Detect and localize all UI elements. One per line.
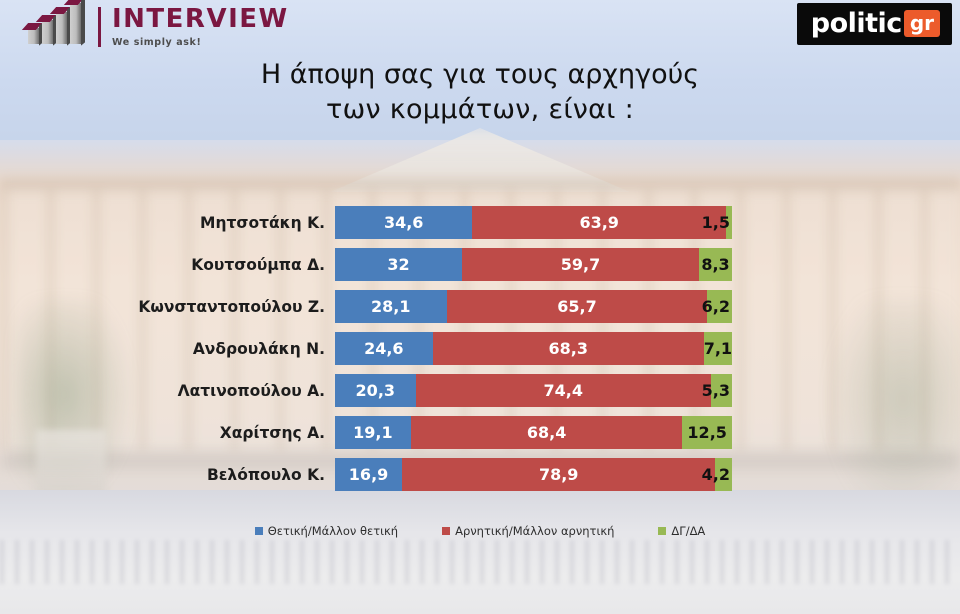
bar-segment-dk: 5,3	[711, 374, 732, 407]
stacked-bar: 34,663,91,5	[335, 206, 732, 239]
chart-row: Χαρίτσης Α.19,168,412,5	[0, 416, 960, 449]
bar-segment-dk: 1,5	[726, 206, 732, 239]
legend-item[interactable]: ΔΓ/ΔΑ	[658, 524, 705, 538]
bar-value-label: 7,1	[704, 341, 732, 357]
bar-segment-pos: 20,3	[335, 374, 416, 407]
legend-item[interactable]: Αρνητική/Μάλλον αρνητική	[442, 524, 614, 538]
bar-value-label: 34,6	[384, 215, 423, 231]
bar-value-label: 4,2	[702, 467, 730, 483]
legend-label: Αρνητική/Μάλλον αρνητική	[455, 524, 614, 538]
page-title: Η άποψη σας για τους αρχηγούς των κομμάτ…	[0, 58, 960, 127]
category-label: Κουτσούμπα Δ.	[0, 256, 335, 274]
bar-value-label: 63,9	[579, 215, 618, 231]
bar-segment-neg: 78,9	[402, 458, 715, 491]
bar-value-label: 68,3	[548, 341, 587, 357]
legend-item[interactable]: Θετική/Μάλλον θετική	[255, 524, 398, 538]
category-label: Ανδρουλάκη Ν.	[0, 340, 335, 358]
bar-segment-dk: 4,2	[715, 458, 732, 491]
bar-value-label: 32	[387, 257, 409, 273]
stacked-bar: 3259,78,3	[335, 248, 732, 281]
bar-segment-neg: 68,3	[433, 332, 704, 365]
chart-row: Μητσοτάκη Κ.34,663,91,5	[0, 206, 960, 239]
bar-value-label: 68,4	[527, 425, 566, 441]
bar-segment-neg: 59,7	[462, 248, 699, 281]
category-label: Χαρίτσης Α.	[0, 424, 335, 442]
bar-segment-dk: 12,5	[682, 416, 732, 449]
category-label: Κωνσταντοπούλου Ζ.	[0, 298, 335, 316]
title-line-1: Η άποψη σας για τους αρχηγούς	[0, 58, 960, 93]
bar-value-label: 19,1	[353, 425, 392, 441]
stacked-bar: 16,978,94,2	[335, 458, 732, 491]
stacked-bar: 28,165,76,2	[335, 290, 732, 323]
chart-row: Λατινοπούλου Α.20,374,45,3	[0, 374, 960, 407]
title-line-2: των κομμάτων, είναι :	[0, 93, 960, 128]
chart-legend: Θετική/Μάλλον θετικήΑρνητική/Μάλλον αρνη…	[0, 524, 960, 538]
chart-row: Βελόπουλο Κ.16,978,94,2	[0, 458, 960, 491]
bar-value-label: 6,2	[702, 299, 730, 315]
legend-label: Θετική/Μάλλον θετική	[268, 524, 398, 538]
bar-segment-pos: 32	[335, 248, 462, 281]
bar-value-label: 74,4	[544, 383, 583, 399]
bar-segment-pos: 24,6	[335, 332, 433, 365]
bar-value-label: 78,9	[539, 467, 578, 483]
category-label: Μητσοτάκη Κ.	[0, 214, 335, 232]
bar-segment-dk: 6,2	[707, 290, 732, 323]
legend-swatch-icon	[255, 527, 263, 535]
bar-segment-neg: 68,4	[411, 416, 683, 449]
chart-row: Κουτσούμπα Δ.3259,78,3	[0, 248, 960, 281]
chart-row: Κωνσταντοπούλου Ζ.28,165,76,2	[0, 290, 960, 323]
bar-segment-pos: 34,6	[335, 206, 472, 239]
bar-value-label: 59,7	[561, 257, 600, 273]
interview-logo: INTERVIEW We simply ask!	[26, 4, 289, 50]
bar-value-label: 8,3	[701, 257, 729, 273]
bar-value-label: 5,3	[702, 383, 730, 399]
bar-segment-neg: 74,4	[416, 374, 711, 407]
bar-segment-pos: 16,9	[335, 458, 402, 491]
bar-segment-neg: 65,7	[447, 290, 708, 323]
bar-value-label: 16,9	[349, 467, 388, 483]
legend-swatch-icon	[658, 527, 666, 535]
logo-divider	[98, 7, 101, 47]
bar-segment-pos: 19,1	[335, 416, 411, 449]
stacked-bar: 24,668,37,1	[335, 332, 732, 365]
legend-label: ΔΓ/ΔΑ	[671, 524, 705, 538]
stacked-bar: 20,374,45,3	[335, 374, 732, 407]
bar-value-label: 65,7	[557, 299, 596, 315]
logo-tagline: We simply ask!	[112, 37, 289, 48]
politic-gr-badge: gr	[904, 10, 940, 37]
bar-value-label: 12,5	[687, 425, 726, 441]
bar-value-label: 24,6	[364, 341, 403, 357]
bar-chart-3d-icon	[26, 4, 90, 50]
bar-segment-dk: 8,3	[699, 248, 732, 281]
logo-name: INTERVIEW	[112, 6, 289, 32]
category-label: Λατινοπούλου Α.	[0, 382, 335, 400]
category-label: Βελόπουλο Κ.	[0, 466, 335, 484]
stacked-bar: 19,168,412,5	[335, 416, 732, 449]
bar-value-label: 1,5	[702, 215, 730, 231]
bar-segment-neg: 63,9	[472, 206, 726, 239]
stacked-bar-chart: Μητσοτάκη Κ.34,663,91,5Κουτσούμπα Δ.3259…	[0, 206, 960, 500]
chart-row: Ανδρουλάκη Ν.24,668,37,1	[0, 332, 960, 365]
bar-value-label: 20,3	[356, 383, 395, 399]
politic-gr-logo: politic gr	[797, 3, 952, 45]
legend-swatch-icon	[442, 527, 450, 535]
politic-wordmark: politic	[811, 10, 902, 37]
bar-value-label: 28,1	[371, 299, 410, 315]
bar-segment-pos: 28,1	[335, 290, 447, 323]
background-crowd	[0, 540, 960, 584]
bar-segment-dk: 7,1	[704, 332, 732, 365]
header: INTERVIEW We simply ask! politic gr	[0, 0, 960, 58]
